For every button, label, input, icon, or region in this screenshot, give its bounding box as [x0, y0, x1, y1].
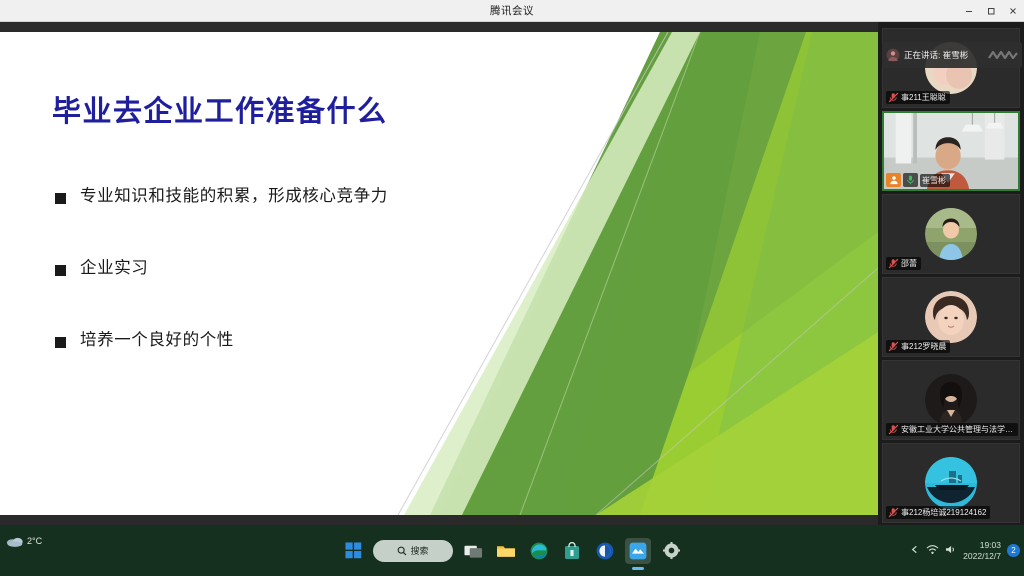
bullet-marker-icon [55, 193, 66, 204]
clock-time: 19:03 [963, 540, 1001, 551]
participant-name: 事212杨培诚219124162 [901, 507, 986, 518]
store-bag-icon [564, 542, 580, 560]
app-circle-icon [596, 542, 614, 560]
bullet-text: 培养一个良好的个性 [80, 331, 234, 351]
notification-badge[interactable]: 2 [1007, 544, 1020, 557]
slide-title: 毕业去企业工作准备什么 [52, 88, 388, 130]
avatar [925, 374, 977, 426]
search-icon [397, 546, 407, 556]
participant-name: 事212罗晓晨 [901, 341, 946, 352]
bullet-item: 企业实习 [55, 259, 615, 279]
speaking-indicator-banner: 正在讲话: 崔雪彬 [882, 42, 1022, 68]
bullet-text: 专业知识和技能的积累，形成核心竞争力 [80, 187, 388, 207]
participant-name: 邵蕾 [901, 258, 917, 269]
edge-browser-button[interactable] [526, 538, 552, 564]
folder-icon [496, 543, 516, 559]
system-tray: 19:03 2022/12/7 2 [909, 525, 1020, 576]
start-button[interactable] [340, 538, 366, 564]
participant-tile[interactable]: 邵蕾 [882, 194, 1020, 274]
microphone-muted-icon [888, 424, 899, 435]
avatar [925, 208, 977, 260]
participant-tile[interactable]: 事212杨培诚219124162 [882, 443, 1020, 523]
task-view-icon [464, 543, 483, 559]
app-button[interactable] [592, 538, 618, 564]
weather-widget[interactable]: 2°C [6, 534, 42, 548]
tray-overflow-icon[interactable] [909, 544, 920, 557]
task-view-button[interactable] [460, 538, 486, 564]
network-icon[interactable] [926, 544, 939, 557]
participant-name: 事211王聪聪 [901, 92, 946, 103]
participant-rail[interactable]: 事211王聪聪 [878, 22, 1024, 525]
clock-date: 2022/12/7 [963, 551, 1001, 562]
windows-logo-icon [345, 542, 362, 559]
audio-wave-icon [988, 49, 1018, 61]
file-explorer-button[interactable] [493, 538, 519, 564]
speaking-indicator-label: 正在讲话: 崔雪彬 [904, 49, 968, 61]
bullet-item: 专业知识和技能的积累，形成核心竞争力 [55, 187, 615, 207]
clock[interactable]: 19:03 2022/12/7 [963, 540, 1001, 561]
search-placeholder: 搜索 [410, 544, 428, 557]
window-title-bar: 腾讯会议 [0, 0, 1024, 22]
minimize-button[interactable] [958, 0, 980, 22]
microphone-muted-icon [888, 507, 899, 518]
avatar-icon [886, 48, 900, 62]
window-controls [958, 0, 1024, 22]
close-button[interactable] [1002, 0, 1024, 22]
presentation-slide: 毕业去企业工作准备什么 专业知识和技能的积累，形成核心竞争力 企业实习 培养一个… [0, 32, 878, 515]
microphone-muted-icon [888, 92, 899, 103]
participant-name-chip: 事212杨培诚219124162 [886, 506, 990, 519]
microphone-muted-icon [888, 341, 899, 352]
tencent-meeting-icon [629, 542, 647, 560]
participant-name-chip: 事211王聪聪 [886, 91, 950, 104]
cloud-icon [6, 534, 24, 548]
person-icon [886, 173, 901, 187]
store-button[interactable] [559, 538, 585, 564]
participant-tile-active-speaker[interactable]: 崔雪彬 [882, 111, 1020, 191]
window-title: 腾讯会议 [490, 3, 534, 18]
slide-bullet-list: 专业知识和技能的积累，形成核心竞争力 企业实习 培养一个良好的个性 [55, 187, 615, 402]
participant-name-chip: 邵蕾 [886, 257, 921, 270]
participant-name: 崔雪彬 [922, 175, 946, 186]
participant-tile[interactable]: 事211王聪聪 [882, 28, 1020, 108]
participant-name-chip: 事212罗晓晨 [886, 340, 950, 353]
active-speaker-badges: 崔雪彬 [886, 173, 950, 187]
participant-tile[interactable]: 事212罗晓晨 [882, 277, 1020, 357]
microphone-muted-icon [888, 258, 899, 269]
participant-name: 安徽工业大学公共管理与法学院叶冰... [901, 424, 1014, 435]
participant-name-chip: 崔雪彬 [920, 174, 950, 187]
gear-icon [663, 542, 680, 559]
participant-name-chip: 安徽工业大学公共管理与法学院叶冰... [886, 423, 1018, 436]
avatar [925, 457, 977, 509]
bullet-text: 企业实习 [80, 259, 148, 279]
edge-icon [530, 542, 548, 560]
participant-tile[interactable]: 安徽工业大学公共管理与法学院叶冰... [882, 360, 1020, 440]
taskbar-center-group: 搜索 [340, 525, 684, 576]
settings-button[interactable] [658, 538, 684, 564]
bullet-marker-icon [55, 337, 66, 348]
maximize-button[interactable] [980, 0, 1002, 22]
bullet-item: 培养一个良好的个性 [55, 331, 615, 351]
avatar [925, 291, 977, 343]
shared-screen-stage: 毕业去企业工作准备什么 专业知识和技能的积累，形成核心竞争力 企业实习 培养一个… [0, 22, 878, 525]
tencent-meeting-button[interactable] [625, 538, 651, 564]
bullet-marker-icon [55, 265, 66, 276]
search-box[interactable]: 搜索 [373, 540, 453, 562]
weather-temperature: 2°C [27, 536, 42, 546]
windows-taskbar: 2°C 搜索 [0, 525, 1024, 576]
volume-icon[interactable] [945, 544, 957, 557]
microphone-icon [903, 173, 918, 187]
